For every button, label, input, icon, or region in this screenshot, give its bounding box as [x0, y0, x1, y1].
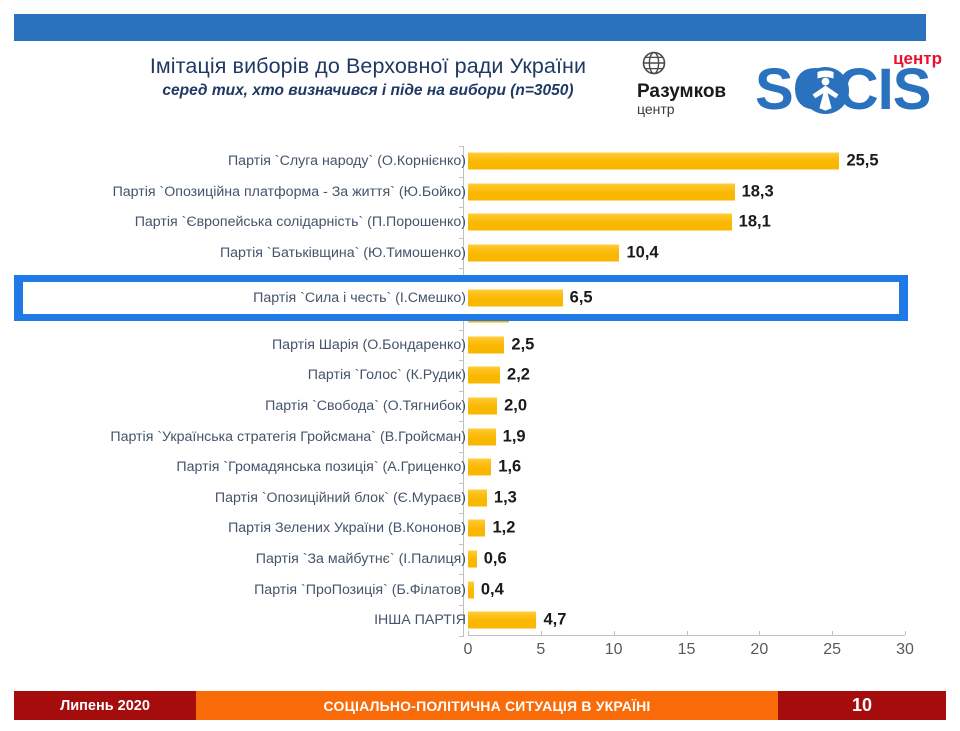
footer-page-number: 10 [778, 691, 946, 720]
value-tick [541, 631, 542, 635]
bar [468, 520, 485, 537]
bar-container: 0,4 [468, 581, 504, 598]
value-tick [905, 631, 906, 635]
bar [468, 428, 496, 445]
bar-value-label: 6,5 [570, 289, 593, 308]
bar-container: 1,9 [468, 428, 526, 445]
bar-value-label: 18,3 [742, 182, 774, 201]
razumkov-logo: Разумков центр [637, 50, 747, 117]
value-tick [468, 631, 469, 635]
bar-value-label: 1,3 [494, 488, 517, 507]
bar-category-label: Партія `Українська стратегія Гройсмана` … [110, 429, 466, 445]
bar [468, 153, 839, 170]
bar-row: Партія `Слуга народу` (О.Корнієнко)25,5 [0, 146, 960, 177]
page-title: Імітація виборів до Верховної ради Украї… [118, 54, 618, 79]
bar-value-label: 25,5 [846, 152, 878, 171]
bar-container: 6,5 [468, 290, 593, 307]
bar [468, 245, 619, 262]
globe-icon [641, 50, 747, 81]
bar-category-label: ІНША ПАРТІЯ [374, 612, 466, 628]
value-tick [759, 631, 760, 635]
bar [468, 214, 732, 231]
bar-value-label: 2,5 [511, 335, 534, 354]
bar-row: Партія Шарія (О.Бондаренко)2,5 [0, 330, 960, 361]
bar-container: 1,6 [468, 459, 521, 476]
highlighted-row-content: Партія `Сила і честь` (І.Смешко)6,5 [0, 275, 960, 321]
category-tick [459, 636, 464, 637]
bar-row: Партія `Європейська солідарність` (П.Пор… [0, 207, 960, 238]
bar-container: 2,2 [468, 367, 530, 384]
bar-rows: Партія `Слуга народу` (О.Корнієнко)25,5П… [0, 146, 960, 636]
bar [468, 612, 536, 629]
bar-container: 18,3 [468, 183, 774, 200]
value-tick [832, 631, 833, 635]
bar-value-label: 0,6 [484, 550, 507, 569]
bar [468, 367, 500, 384]
page-subtitle: серед тих, хто визначився і піде на вибо… [118, 82, 618, 100]
value-tick-label: 30 [896, 641, 914, 659]
bar [468, 551, 477, 568]
bar-category-label: Партія `Голос` (К.Рудик) [308, 367, 466, 383]
value-tick [687, 631, 688, 635]
bar-value-label: 2,2 [507, 366, 530, 385]
footer-date: Липень 2020 [14, 691, 196, 720]
bar-category-label: Партія `Сила і честь` (І.Смешко) [253, 290, 466, 306]
bar-category-label: Партія `Слуга народу` (О.Корнієнко) [228, 153, 466, 169]
bar-value-label: 4,7 [543, 611, 566, 630]
footer-title: СОЦІАЛЬНО-ПОЛІТИЧНА СИТУАЦІЯ В УКРАЇНІ [196, 691, 778, 720]
bar-container: 4,7 [468, 612, 566, 629]
bar-row: Партія `Свобода` (О.Тягнибок)2,0 [0, 391, 960, 422]
bar [468, 398, 497, 415]
bar-row: Партія `Батьківщина` (Ю.Тимошенко)10,4 [0, 238, 960, 269]
footer-bar: Липень 2020 СОЦІАЛЬНО-ПОЛІТИЧНА СИТУАЦІЯ… [14, 691, 946, 720]
value-tick-label: 10 [605, 641, 623, 659]
bar-category-label: Партія `Опозиційна платформа - За життя`… [113, 184, 466, 200]
value-tick [614, 631, 615, 635]
bar-value-label: 1,6 [498, 458, 521, 477]
value-tick-label: 15 [678, 641, 696, 659]
chart-header: Імітація виборів до Верховної ради Украї… [0, 48, 960, 120]
socis-figure-icon [802, 67, 849, 119]
bar-chart: Партія `Слуга народу` (О.Корнієнко)25,5П… [0, 130, 960, 680]
bar-value-label: 1,2 [492, 519, 515, 538]
bar-container: 1,2 [468, 520, 515, 537]
bar-container: 1,3 [468, 489, 517, 506]
bar-container: 25,5 [468, 153, 879, 170]
value-tick-label: 0 [464, 641, 473, 659]
bar-category-label: Партія Зелених України (В.Кононов) [228, 520, 466, 536]
title-block: Імітація виборів до Верховної ради Украї… [118, 54, 618, 100]
bar-row: Партія `Голос` (К.Рудик)2,2 [0, 360, 960, 391]
value-axis: 051015202530 [468, 635, 905, 675]
bar-category-label: Партія `ПроПозиція` (Б.Філатов) [254, 582, 466, 598]
value-tick-label: 5 [536, 641, 545, 659]
bar-value-label: 1,9 [503, 427, 526, 446]
bar-row: ІНША ПАРТІЯ4,7 [0, 605, 960, 636]
bar-category-label: Партія `Опозиційний блок` (Є.Мураєв) [215, 490, 466, 506]
value-tick-label: 20 [750, 641, 768, 659]
bar-container: 2,5 [468, 336, 534, 353]
socis-center-label: центр [893, 50, 942, 67]
bar-row: Партія `Громадянська позиція` (А.Гриценк… [0, 452, 960, 483]
bar-value-label: 2,0 [504, 397, 527, 416]
bar [468, 290, 563, 307]
bar-category-label: Партія Шарія (О.Бондаренко) [272, 337, 466, 353]
bar-container: 10,4 [468, 245, 659, 262]
bar [468, 459, 491, 476]
bar-row: Партія `Опозиційна платформа - За життя`… [0, 177, 960, 208]
bar-row: Партія `За майбутнє` (І.Палиця)0,6 [0, 544, 960, 575]
bar-category-label: Партія `Громадянська позиція` (А.Гриценк… [176, 459, 466, 475]
razumkov-subtitle: центр [637, 102, 747, 117]
bar-value-label: 0,4 [481, 580, 504, 599]
value-axis-line [468, 635, 905, 636]
top-blue-band [14, 14, 926, 41]
bar-row: Партія `Сила і честь` (І.Смешко)6,5 [0, 275, 960, 321]
bar-row: Партія Зелених України (В.Кононов)1,2 [0, 513, 960, 544]
bar-value-label: 10,4 [626, 244, 658, 263]
bar [468, 336, 504, 353]
bar-category-label: Партія `За майбутнє` (І.Палиця) [256, 551, 466, 567]
bar-category-label: Партія `Батьківщина` (Ю.Тимошенко) [220, 245, 466, 261]
bar-category-label: Партія `Європейська солідарність` (П.Пор… [135, 214, 466, 230]
razumkov-name: Разумков [637, 82, 747, 102]
bar [468, 489, 487, 506]
socis-logo: SOCIS центр [755, 50, 945, 122]
bar-row: Партія `ПроПозиція` (Б.Філатов)0,4 [0, 574, 960, 605]
bar-value-label: 18,1 [739, 213, 771, 232]
bar-category-label: Партія `Свобода` (О.Тягнибок) [265, 398, 466, 414]
bar-row: Партія `Українська стратегія Гройсмана` … [0, 421, 960, 452]
bar [468, 183, 735, 200]
bar [468, 581, 474, 598]
bar-container: 2,0 [468, 398, 527, 415]
bar-row: Партія `Опозиційний блок` (Є.Мураєв)1,3 [0, 483, 960, 514]
bar-container: 0,6 [468, 551, 507, 568]
value-tick-label: 25 [823, 641, 841, 659]
bar-container: 18,1 [468, 214, 771, 231]
